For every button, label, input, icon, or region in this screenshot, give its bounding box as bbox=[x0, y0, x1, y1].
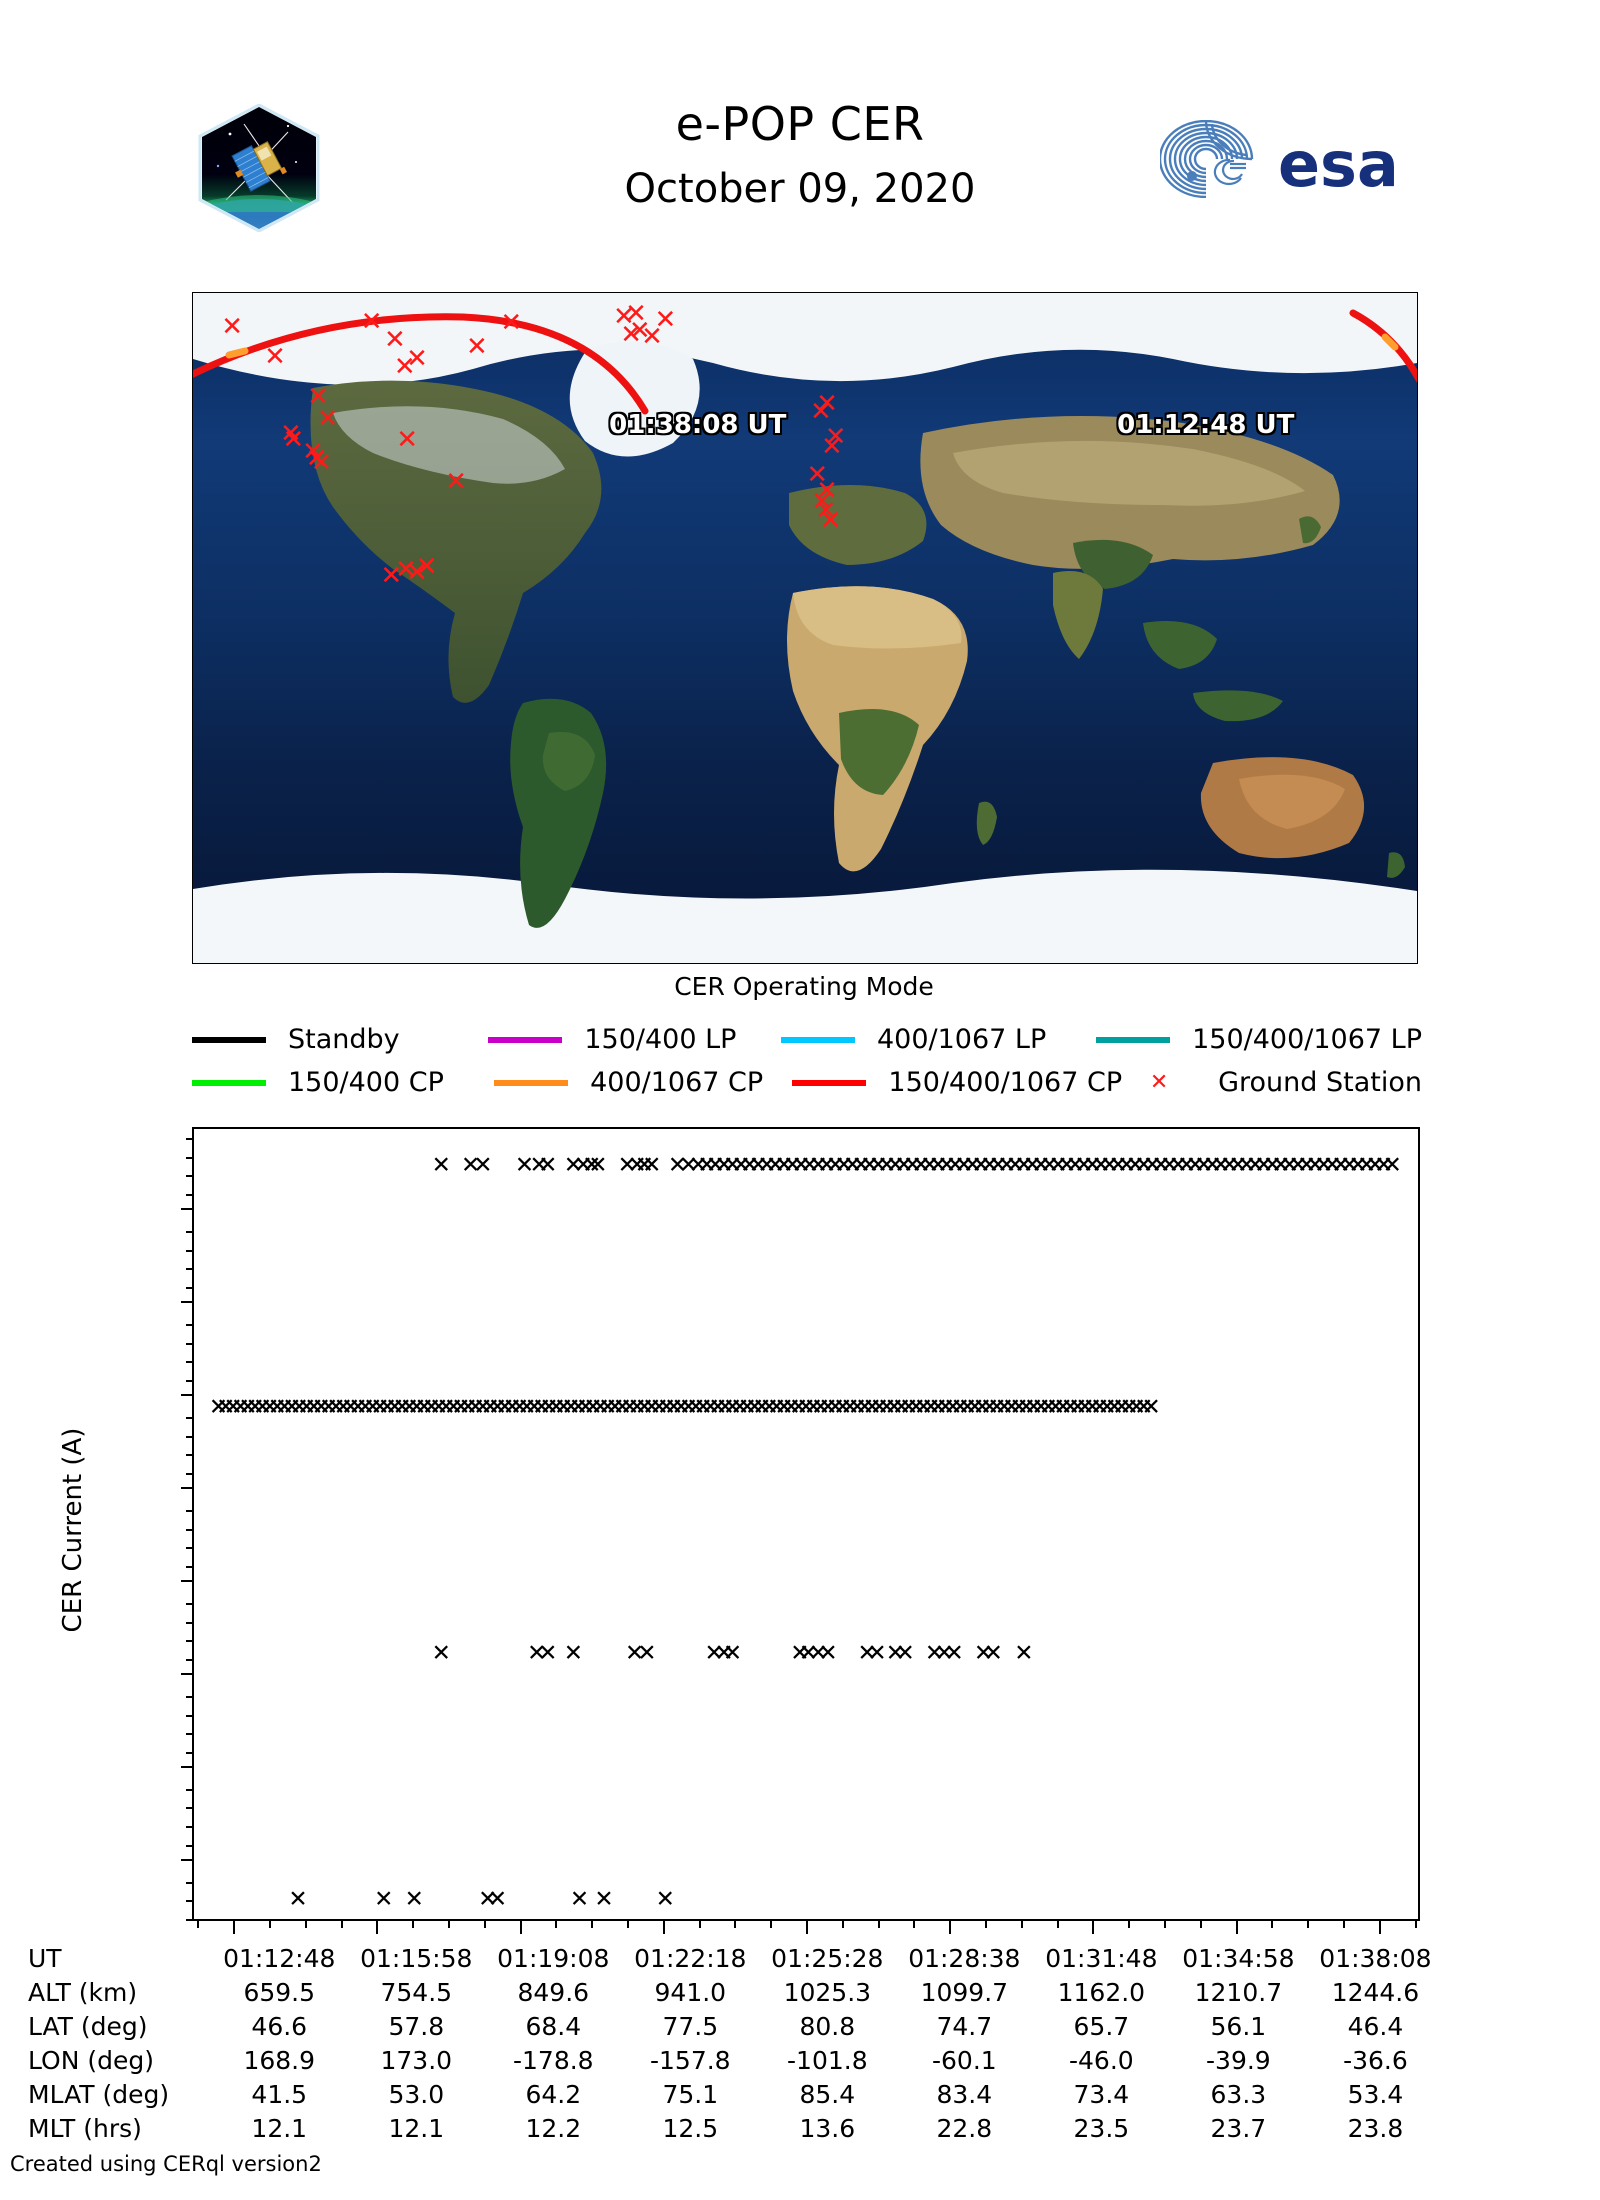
legend-label: Ground Station bbox=[1218, 1067, 1422, 1098]
x-tick-major-6 bbox=[1092, 1919, 1094, 1934]
legend-item-400-1067-lp: 400/1067 LP bbox=[781, 1024, 1096, 1055]
table-cell: 01:25:28 bbox=[759, 1942, 896, 1976]
table-cell: 57.8 bbox=[348, 2010, 485, 2044]
legend-label: 150/400/1067 LP bbox=[1192, 1024, 1422, 1055]
y-tick-minor bbox=[186, 1380, 194, 1382]
data-point-marker: ✕ bbox=[642, 1155, 661, 1178]
ground-station-marker: ✕ bbox=[655, 307, 677, 333]
table-cell: 64.2 bbox=[485, 2078, 622, 2112]
y-tick-minor bbox=[186, 1696, 194, 1698]
legend-color-swatch bbox=[192, 1037, 266, 1043]
legend-color-swatch bbox=[781, 1037, 855, 1043]
x-tick-minor bbox=[913, 1919, 915, 1928]
x-tick-minor bbox=[1307, 1919, 1309, 1928]
legend-item-150-400-1067-lp: 150/400/1067 LP bbox=[1096, 1024, 1422, 1055]
y-tick-minor bbox=[186, 1826, 194, 1828]
y-tick-minor bbox=[186, 1919, 194, 1921]
x-tick-major-2 bbox=[520, 1919, 522, 1934]
y-tick-minor bbox=[186, 1566, 194, 1568]
legend-row: 150/400 CP400/1067 CP150/400/1067 CP✕Gro… bbox=[192, 1061, 1422, 1104]
legend-item-400-1067-cp: 400/1067 CP bbox=[494, 1067, 792, 1098]
table-cell: 12.5 bbox=[622, 2112, 759, 2146]
table-cell: 41.5 bbox=[211, 2078, 348, 2112]
ground-station-marker: ✕ bbox=[311, 450, 333, 476]
table-cell: 01:38:08 bbox=[1307, 1942, 1444, 1976]
y-tick-minor bbox=[186, 1268, 194, 1270]
y-tick-minor bbox=[186, 1807, 194, 1809]
x-tick-major-1 bbox=[376, 1919, 378, 1934]
data-point-marker: ✕ bbox=[432, 1643, 451, 1666]
x-tick-minor bbox=[734, 1919, 736, 1928]
table-cell: 22.8 bbox=[896, 2112, 1033, 2146]
data-point-marker: ✕ bbox=[405, 1889, 424, 1912]
y-tick-minor bbox=[186, 1287, 194, 1289]
world-map-panel: ✕✕✕✕✕✕✕✕✕✕✕✕✕✕✕✕✕✕✕✕✕✕✕✕✕✕✕✕✕✕✕✕✕✕✕✕ 01:… bbox=[192, 292, 1418, 964]
x-tick-minor bbox=[1415, 1919, 1417, 1928]
legend-color-swatch bbox=[792, 1080, 866, 1086]
x-tick-minor bbox=[985, 1919, 987, 1928]
table-cell: 13.6 bbox=[759, 2112, 896, 2146]
data-point-marker: ✕ bbox=[588, 1155, 607, 1178]
table-cell: 168.9 bbox=[211, 2044, 348, 2078]
table-cell: 12.1 bbox=[348, 2112, 485, 2146]
data-point-marker: ✕ bbox=[538, 1155, 557, 1178]
page-title: e-POP CER bbox=[400, 95, 1200, 153]
x-tick-minor bbox=[448, 1919, 450, 1928]
table-cell: 85.4 bbox=[759, 2078, 896, 2112]
ground-station-marker: ✕ bbox=[416, 554, 438, 580]
ground-station-marker: ✕ bbox=[361, 309, 383, 335]
y-tick-major bbox=[181, 1859, 194, 1861]
x-tick-major-3 bbox=[663, 1919, 665, 1934]
y-tick-major bbox=[181, 1394, 194, 1396]
table-cell: -157.8 bbox=[622, 2044, 759, 2078]
data-point-marker: ✕ bbox=[656, 1889, 675, 1912]
y-tick-minor bbox=[186, 1138, 194, 1140]
legend-item-standby: Standby bbox=[192, 1024, 488, 1055]
table-cell: 74.7 bbox=[896, 2010, 1033, 2044]
x-tick-minor bbox=[555, 1919, 557, 1928]
data-point-marker: ✕ bbox=[1014, 1643, 1033, 1666]
x-tick-minor bbox=[1021, 1919, 1023, 1928]
x-tick-minor bbox=[269, 1919, 271, 1928]
data-point-marker: ✕ bbox=[564, 1643, 583, 1666]
x-tick-minor bbox=[412, 1919, 414, 1928]
table-cell: 1099.7 bbox=[896, 1976, 1033, 2010]
table-row: MLAT (deg)41.553.064.275.185.483.473.463… bbox=[24, 2078, 1444, 2112]
table-cell: 659.5 bbox=[211, 1976, 348, 2010]
table-cell: 46.6 bbox=[211, 2010, 348, 2044]
x-tick-major-0 bbox=[233, 1919, 235, 1934]
x-tick-major-8 bbox=[1379, 1919, 1381, 1934]
legend-color-swatch bbox=[1096, 1037, 1170, 1043]
table-cell: -178.8 bbox=[485, 2044, 622, 2078]
x-tick-minor bbox=[770, 1919, 772, 1928]
y-tick-minor bbox=[186, 1529, 194, 1531]
x-tick-minor bbox=[305, 1919, 307, 1928]
y-tick-minor bbox=[186, 1547, 194, 1549]
data-point-marker: ✕ bbox=[984, 1643, 1003, 1666]
y-tick-major bbox=[181, 1766, 194, 1768]
ground-station-marker: ✕ bbox=[500, 310, 522, 336]
table-row: LON (deg)168.9173.0-178.8-157.8-101.8-60… bbox=[24, 2044, 1444, 2078]
table-cell: 73.4 bbox=[1033, 2078, 1170, 2112]
y-tick-minor bbox=[186, 1473, 194, 1475]
y-tick-major bbox=[181, 1673, 194, 1675]
ground-station-marker: ✕ bbox=[445, 469, 467, 495]
y-tick-minor bbox=[186, 1436, 194, 1438]
map-ut-label-1: 01:12:48 UT bbox=[1117, 410, 1294, 440]
table-cell: 849.6 bbox=[485, 1976, 622, 2010]
x-tick-minor bbox=[1271, 1919, 1273, 1928]
table-cell: 1244.6 bbox=[1307, 1976, 1444, 2010]
y-tick-major bbox=[181, 1208, 194, 1210]
table-row-label: MLAT (deg) bbox=[24, 2078, 211, 2112]
table-cell: -60.1 bbox=[896, 2044, 1033, 2078]
y-tick-minor bbox=[186, 1454, 194, 1456]
table-cell: 01:34:58 bbox=[1170, 1942, 1307, 1976]
x-tick-minor bbox=[1200, 1919, 1202, 1928]
legend-item-150-400-cp: 150/400 CP bbox=[192, 1067, 494, 1098]
table-cell: 23.8 bbox=[1307, 2112, 1444, 2146]
data-point-marker: ✕ bbox=[1383, 1155, 1402, 1178]
y-tick-minor bbox=[186, 1789, 194, 1791]
table-cell: 80.8 bbox=[759, 2010, 896, 2044]
y-tick-minor bbox=[186, 1343, 194, 1345]
x-tick-minor bbox=[1164, 1919, 1166, 1928]
data-point-marker: ✕ bbox=[570, 1889, 589, 1912]
y-tick-minor bbox=[186, 1845, 194, 1847]
ground-station-marker: ✕ bbox=[820, 508, 842, 534]
data-point-marker: ✕ bbox=[1142, 1396, 1161, 1419]
y-tick-minor bbox=[186, 1324, 194, 1326]
y-tick-minor bbox=[186, 1510, 194, 1512]
legend-item-150-400-lp: 150/400 LP bbox=[488, 1024, 781, 1055]
table-cell: 173.0 bbox=[348, 2044, 485, 2078]
y-tick-major bbox=[181, 1487, 194, 1489]
table-row-label: LAT (deg) bbox=[24, 2010, 211, 2044]
ground-station-marker: ✕ bbox=[384, 327, 406, 353]
data-point-marker: ✕ bbox=[867, 1643, 886, 1666]
x-tick-minor bbox=[341, 1919, 343, 1928]
x-tick-major-5 bbox=[949, 1919, 951, 1934]
table-cell: 01:31:48 bbox=[1033, 1942, 1170, 1976]
operating-mode-legend: Standby150/400 LP400/1067 LP150/400/1067… bbox=[192, 1018, 1422, 1104]
table-cell: 56.1 bbox=[1170, 2010, 1307, 2044]
y-tick-minor bbox=[186, 1175, 194, 1177]
table-cell: 68.4 bbox=[485, 2010, 622, 2044]
ground-station-marker: ✕ bbox=[620, 322, 642, 348]
x-tick-minor bbox=[842, 1919, 844, 1928]
table-row-label: UT bbox=[24, 1942, 211, 1976]
y-tick-minor bbox=[186, 1603, 194, 1605]
y-axis-title: CER Current (A) bbox=[58, 1428, 88, 1633]
table-cell: 75.1 bbox=[622, 2078, 759, 2112]
legend-item-150-400-1067-cp: 150/400/1067 CP bbox=[792, 1067, 1122, 1098]
table-cell: 63.3 bbox=[1170, 2078, 1307, 2112]
table-cell: 65.7 bbox=[1033, 2010, 1170, 2044]
data-point-marker: ✕ bbox=[944, 1643, 963, 1666]
y-tick-minor bbox=[186, 1194, 194, 1196]
cassiope-mission-logo bbox=[196, 104, 322, 232]
ground-station-marker: ✕ bbox=[317, 406, 339, 432]
ground-station-marker: ✕ bbox=[396, 427, 418, 453]
ground-station-marker: ✕ bbox=[821, 434, 843, 460]
legend-label: 150/400 CP bbox=[288, 1067, 444, 1098]
data-point-marker: ✕ bbox=[473, 1155, 492, 1178]
page-date: October 09, 2020 bbox=[400, 159, 1200, 219]
table-cell: 1025.3 bbox=[759, 1976, 896, 2010]
y-tick-minor bbox=[186, 1715, 194, 1717]
title-block: e-POP CER October 09, 2020 bbox=[400, 95, 1200, 219]
ephemeris-table: UT01:12:4801:15:5801:19:0801:22:1801:25:… bbox=[24, 1942, 1444, 2146]
data-point-marker: ✕ bbox=[723, 1643, 742, 1666]
table-cell: 1162.0 bbox=[1033, 1976, 1170, 2010]
legend-color-swatch bbox=[192, 1080, 266, 1086]
x-tick-minor bbox=[484, 1919, 486, 1928]
table-cell: -36.6 bbox=[1307, 2044, 1444, 2078]
table-cell: 01:15:58 bbox=[348, 1942, 485, 1976]
y-tick-minor bbox=[186, 1900, 194, 1902]
y-tick-minor bbox=[186, 1659, 194, 1661]
data-point-marker: ✕ bbox=[432, 1155, 451, 1178]
table-row: ALT (km)659.5754.5849.6941.01025.31099.7… bbox=[24, 1976, 1444, 2010]
x-tick-minor bbox=[1057, 1919, 1059, 1928]
table-cell: 23.5 bbox=[1033, 2112, 1170, 2146]
y-tick-minor bbox=[186, 1733, 194, 1735]
legend-label: Standby bbox=[288, 1024, 400, 1055]
table-cell: 01:19:08 bbox=[485, 1942, 622, 1976]
legend-color-swatch bbox=[494, 1080, 568, 1086]
map-caption: CER Operating Mode bbox=[192, 972, 1416, 1001]
table-cell: 53.0 bbox=[348, 2078, 485, 2112]
table-cell: 23.7 bbox=[1170, 2112, 1307, 2146]
ground-station-marker: ✕ bbox=[466, 334, 488, 360]
x-tick-minor bbox=[591, 1919, 593, 1928]
page-header: e-POP CER October 09, 2020 bbox=[0, 0, 1600, 280]
x-tick-minor bbox=[1128, 1919, 1130, 1928]
legend-label: 150/400/1067 CP bbox=[888, 1067, 1122, 1098]
footer-credit: Created using CERql version2 bbox=[10, 2152, 322, 2176]
table-cell: 46.4 bbox=[1307, 2010, 1444, 2044]
map-ut-label-0: 01:38:08 UT bbox=[609, 410, 786, 440]
data-point-marker: ✕ bbox=[488, 1889, 507, 1912]
table-row-label: MLT (hrs) bbox=[24, 2112, 211, 2146]
data-point-marker: ✕ bbox=[288, 1889, 307, 1912]
data-point-marker: ✕ bbox=[594, 1889, 613, 1912]
ground-station-marker: ✕ bbox=[406, 346, 428, 372]
table-cell: 77.5 bbox=[622, 2010, 759, 2044]
legend-label: 400/1067 CP bbox=[590, 1067, 763, 1098]
legend-label: 150/400 LP bbox=[584, 1024, 736, 1055]
y-tick-minor bbox=[186, 1640, 194, 1642]
cer-current-plot: 0.480.490.500.510.520.530.540.55✕✕✕✕✕✕✕✕… bbox=[192, 1127, 1420, 1921]
table-row-label: ALT (km) bbox=[24, 1976, 211, 2010]
table-row: UT01:12:4801:15:5801:19:0801:22:1801:25:… bbox=[24, 1942, 1444, 1976]
legend-color-swatch bbox=[488, 1037, 562, 1043]
table-cell: -101.8 bbox=[759, 2044, 896, 2078]
y-tick-major bbox=[181, 1301, 194, 1303]
table-cell: 1210.7 bbox=[1170, 1976, 1307, 2010]
table-cell: 12.2 bbox=[485, 2112, 622, 2146]
x-tick-minor bbox=[1343, 1919, 1345, 1928]
table-cell: 941.0 bbox=[622, 1976, 759, 2010]
y-tick-minor bbox=[186, 1622, 194, 1624]
table-row-label: LON (deg) bbox=[24, 2044, 211, 2078]
world-map-image bbox=[193, 293, 1417, 963]
legend-item-ground-station: ✕Ground Station bbox=[1122, 1067, 1422, 1098]
table-cell: 01:22:18 bbox=[622, 1942, 759, 1976]
y-tick-minor bbox=[186, 1157, 194, 1159]
esa-wordmark: esa bbox=[1278, 128, 1399, 198]
x-tick-minor bbox=[878, 1919, 880, 1928]
legend-label: 400/1067 LP bbox=[877, 1024, 1046, 1055]
table-cell: 12.1 bbox=[211, 2112, 348, 2146]
table-cell: 53.4 bbox=[1307, 2078, 1444, 2112]
y-tick-minor bbox=[186, 1752, 194, 1754]
table-cell: 01:12:48 bbox=[211, 1942, 348, 1976]
x-tick-minor bbox=[627, 1919, 629, 1928]
ground-station-marker: ✕ bbox=[221, 314, 243, 340]
x-tick-minor bbox=[699, 1919, 701, 1928]
legend-x-marker-icon: ✕ bbox=[1122, 1070, 1196, 1095]
ground-station-marker: ✕ bbox=[282, 427, 304, 453]
y-tick-major bbox=[181, 1580, 194, 1582]
data-point-marker: ✕ bbox=[896, 1643, 915, 1666]
ground-station-marker: ✕ bbox=[264, 344, 286, 370]
x-tick-minor bbox=[197, 1919, 199, 1928]
plot-data-area: 0.480.490.500.510.520.530.540.55✕✕✕✕✕✕✕✕… bbox=[194, 1129, 1418, 1919]
y-tick-minor bbox=[186, 1250, 194, 1252]
table-cell: 01:28:38 bbox=[896, 1942, 1033, 1976]
data-point-marker: ✕ bbox=[818, 1643, 837, 1666]
y-tick-minor bbox=[186, 1882, 194, 1884]
table-cell: 754.5 bbox=[348, 1976, 485, 2010]
data-point-marker: ✕ bbox=[637, 1643, 656, 1666]
y-tick-minor bbox=[186, 1417, 194, 1419]
y-tick-minor bbox=[186, 1361, 194, 1363]
y-tick-minor bbox=[186, 1231, 194, 1233]
table-cell: -46.0 bbox=[1033, 2044, 1170, 2078]
esa-logo: esa bbox=[1160, 120, 1450, 198]
x-tick-major-4 bbox=[806, 1919, 808, 1934]
data-point-marker: ✕ bbox=[374, 1889, 393, 1912]
table-cell: -39.9 bbox=[1170, 2044, 1307, 2078]
data-point-marker: ✕ bbox=[538, 1643, 557, 1666]
table-cell: 83.4 bbox=[896, 2078, 1033, 2112]
table-row: MLT (hrs)12.112.112.212.513.622.823.523.… bbox=[24, 2112, 1444, 2146]
legend-row: Standby150/400 LP400/1067 LP150/400/1067… bbox=[192, 1018, 1422, 1061]
x-tick-major-7 bbox=[1236, 1919, 1238, 1934]
table-row: LAT (deg)46.657.868.477.580.874.765.756.… bbox=[24, 2010, 1444, 2044]
